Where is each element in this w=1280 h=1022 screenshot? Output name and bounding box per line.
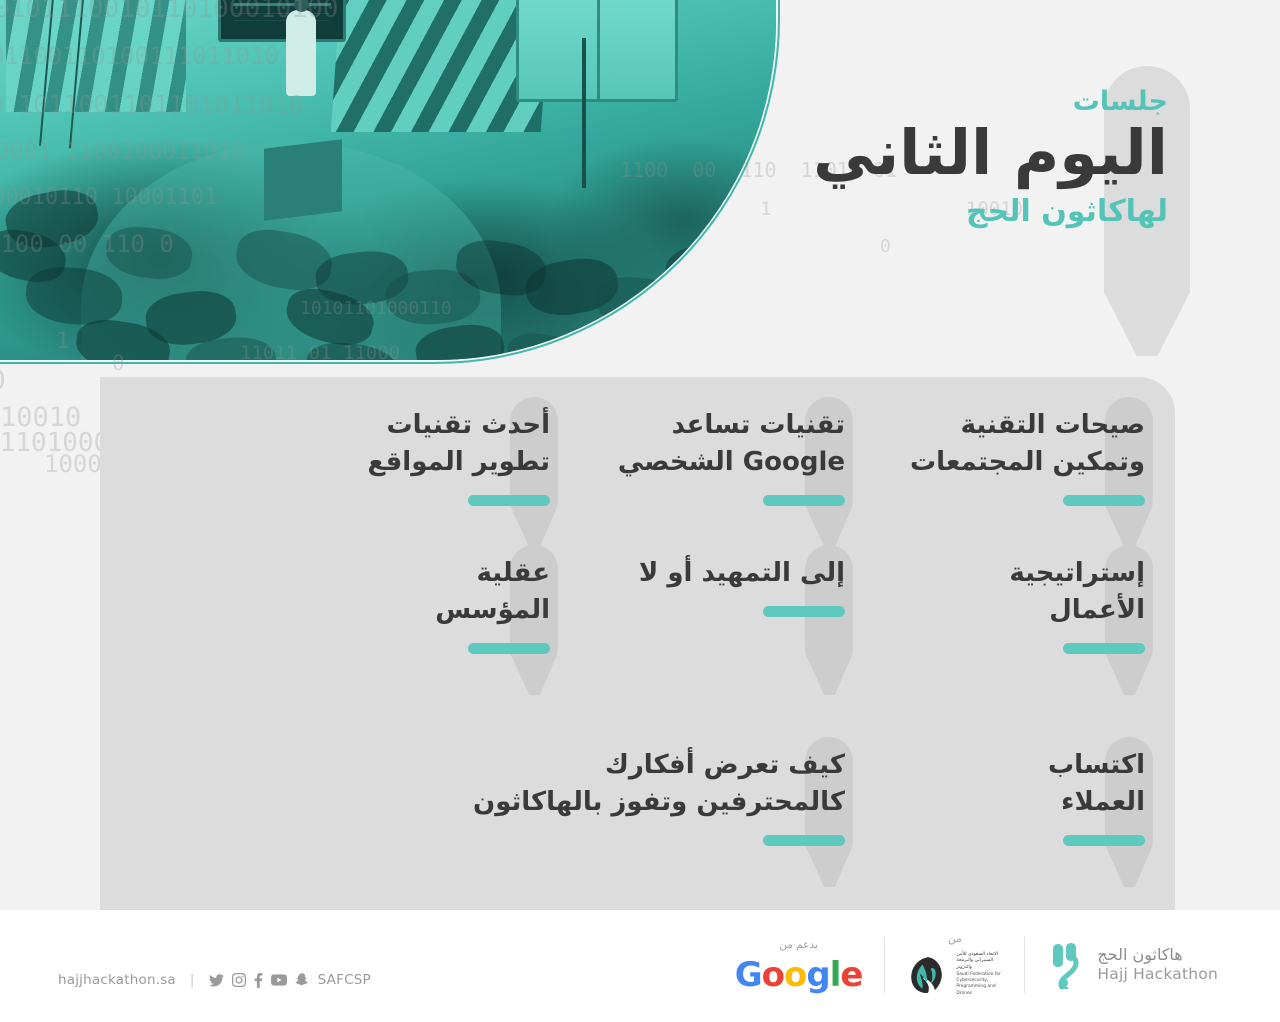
panel-bottom-strip (100, 900, 1175, 910)
instagram-icon[interactable] (232, 973, 246, 987)
session-card[interactable]: إلى التمهيد أو لا (639, 555, 845, 617)
session-title: اكتساب العملاء (1048, 747, 1145, 821)
audience-seat (604, 320, 694, 360)
audience-seat (683, 287, 772, 345)
hajj-hackathon-logo-icon (1047, 941, 1087, 989)
session-accent-bar (1063, 835, 1145, 846)
organizer-caption: من (948, 933, 962, 945)
social-handle: SAFCSP (318, 972, 371, 988)
binary-watermark-line: 10010 (0, 404, 81, 432)
session-accent-bar (1063, 643, 1145, 654)
session-accent-bar (763, 495, 845, 506)
organizer-safcsp: من الاتحاد السعودي للأمن السيبراني والبر… (885, 932, 1024, 998)
session-card[interactable]: عقلية المؤسس (435, 555, 550, 654)
safcsp-english-name: Saudi Federation for Cybersecurity, Prog… (956, 972, 1002, 998)
brand-english: Hajj Hackathon (1097, 965, 1218, 983)
session-title: كيف تعرض أفكارك كالمحترفين وتفوز بالهاكا… (473, 747, 845, 821)
page-title: اليوم الثاني (813, 120, 1168, 186)
session-title: إستراتيجية الأعمال (1009, 555, 1145, 629)
footer-divider: | (190, 972, 195, 988)
safcsp-arabic-name: الاتحاد السعودي للأمن السيبراني والبرمجة… (956, 952, 1002, 972)
session-card[interactable]: تقنيات تساعد Google الشخصي (618, 407, 845, 506)
header-block: جلسات اليوم الثاني لهاكاثون الحج (813, 86, 1168, 231)
youtube-icon[interactable] (271, 974, 287, 986)
session-accent-bar (1063, 495, 1145, 506)
session-card[interactable]: أحدث تقنيات تطوير المواقع (368, 407, 550, 506)
supported-by-google: يدعم من Google (713, 932, 885, 998)
session-card[interactable]: صيحات التقنية وتمكين المجتمعات (910, 407, 1145, 506)
website-link[interactable]: hajjhackathon.sa (58, 972, 176, 988)
audience-seat (104, 224, 195, 283)
session-title: عقلية المؤسس (435, 555, 550, 629)
snapchat-icon[interactable] (295, 973, 309, 987)
brand-arabic: هاكاثون الحج (1097, 946, 1218, 965)
session-accent-bar (763, 606, 845, 617)
session-card[interactable]: اكتساب العملاء (1048, 747, 1145, 846)
footer-links: hajjhackathon.sa | SAFCSP (58, 972, 371, 988)
header-kicker: جلسات (813, 86, 1168, 118)
binary-watermark-line: 0 (0, 368, 6, 395)
audience-crowd (0, 0, 776, 360)
sessions-grid: صيحات التقنية وتمكين المجتمعاتتقنيات تسا… (100, 377, 1175, 900)
audience-seat (413, 319, 507, 360)
audience-seat (502, 328, 600, 360)
session-title: إلى التمهيد أو لا (639, 555, 845, 592)
footer: hajjhackathon.sa | SAFCSP يدعم من Google (0, 910, 1280, 1022)
session-card[interactable]: إستراتيجية الأعمال (1009, 555, 1145, 654)
session-accent-bar (468, 495, 550, 506)
hero-image-region (0, 0, 800, 372)
google-logo: Google (735, 958, 863, 992)
safcsp-logo-icon (907, 955, 949, 995)
session-accent-bar (468, 643, 550, 654)
supported-by-caption: يدعم من (779, 939, 818, 951)
session-title: تقنيات تساعد Google الشخصي (618, 407, 845, 481)
binary-watermark-line: 0 (880, 238, 891, 257)
hackathon-audience-photo (0, 0, 776, 360)
facebook-icon[interactable] (254, 973, 263, 988)
header-subtitle: لهاكاثون الحج (813, 192, 1168, 231)
session-card[interactable]: كيف تعرض أفكارك كالمحترفين وتفوز بالهاكا… (473, 747, 845, 846)
session-title: أحدث تقنيات تطوير المواقع (368, 407, 550, 481)
session-title: صيحات التقنية وتمكين المجتمعات (910, 407, 1145, 481)
footer-logos: يدعم من Google من الاتحاد السعودي للأمن … (713, 932, 1240, 998)
twitter-icon[interactable] (209, 974, 224, 987)
social-icons (209, 973, 309, 988)
session-accent-bar (763, 835, 845, 846)
hajj-hackathon-brand: هاكاثون الحج Hajj Hackathon (1025, 932, 1240, 998)
